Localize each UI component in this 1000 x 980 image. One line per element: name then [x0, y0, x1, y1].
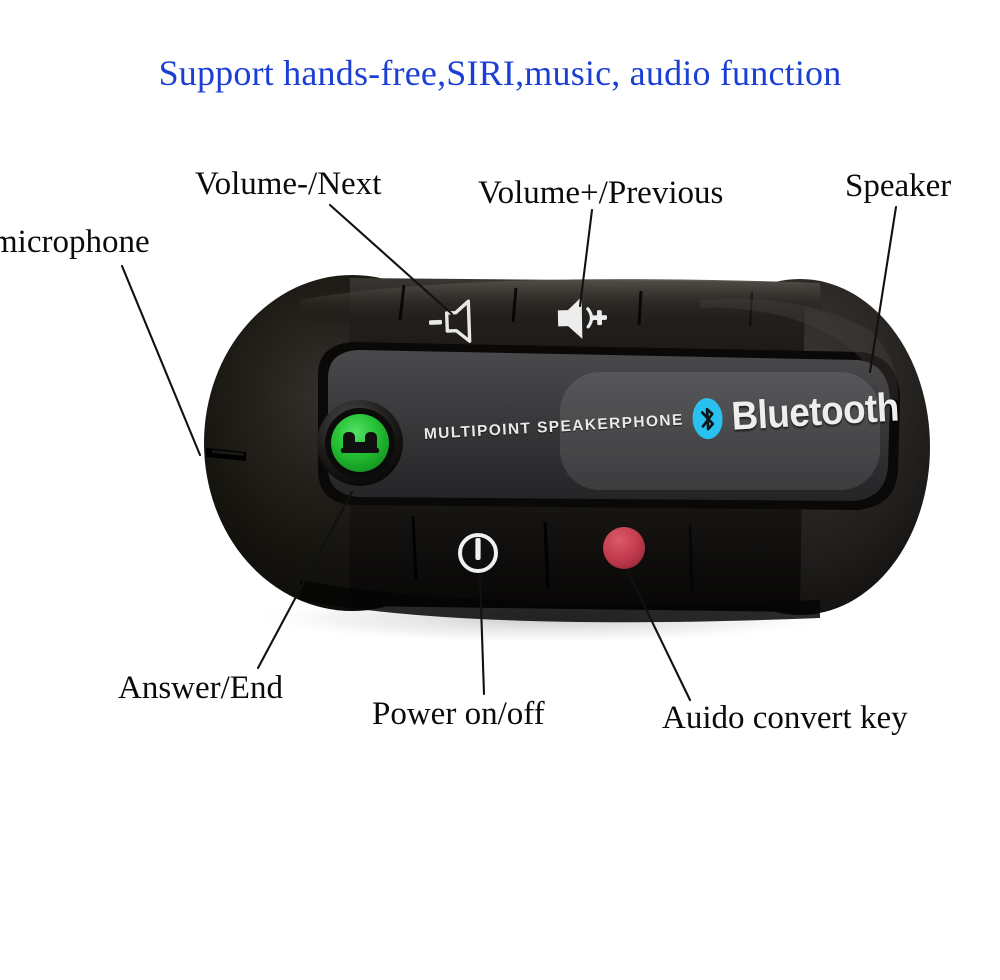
- answer-end-button[interactable]: [317, 400, 403, 486]
- device-illustration: [0, 0, 1000, 980]
- multipoint-speakerphone-text: MULTIPOINT SPEAKERPHONE: [423, 411, 684, 443]
- bluetooth-rune-icon: [692, 397, 724, 440]
- diagram-canvas: Support hands-free,SIRI,music, audio fun…: [0, 0, 1000, 980]
- audio-convert-button[interactable]: [603, 527, 645, 569]
- bluetooth-wordmark: Bluetooth: [730, 385, 900, 439]
